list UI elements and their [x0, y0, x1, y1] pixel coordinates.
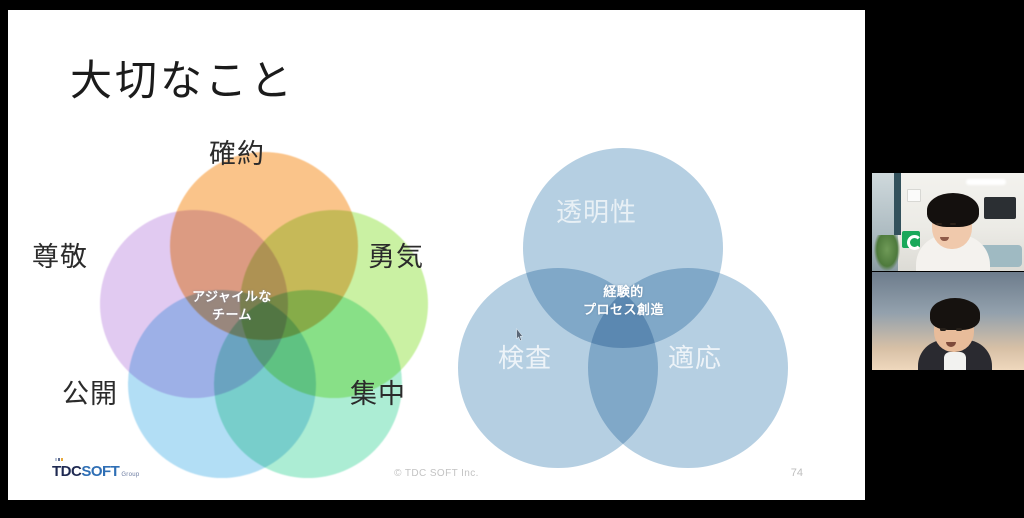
- venn-center-label-line1: 経験的: [603, 284, 644, 299]
- copyright-text: © TDC SOFT Inc.: [8, 468, 865, 479]
- video-green-sign-icon: [902, 231, 920, 248]
- venn-center-label-agile-team: アジャイルな チーム: [164, 288, 300, 323]
- venn-center-label-line2: プロセス創造: [583, 302, 664, 317]
- page-number: 74: [791, 467, 803, 479]
- presentation-slide: 大切なこと 確約 尊敬 勇気 公開 集中 アジャイルな チーム 透明性 検査: [8, 10, 865, 500]
- video-person-eye-left: [936, 223, 942, 225]
- video-tile-participant-2[interactable]: [872, 272, 1024, 370]
- venn-label-courage: 勇気: [368, 235, 424, 274]
- mouse-cursor-icon: [516, 328, 523, 342]
- video-ceiling-light: [966, 179, 1006, 185]
- video-person-shirt: [944, 352, 966, 370]
- video-monitor: [984, 197, 1016, 219]
- screen-share-view: 大切なこと 確約 尊敬 勇気 公開 集中 アジャイルな チーム 透明性 検査: [0, 0, 1024, 518]
- venn-label-commitment: 確約: [209, 132, 265, 171]
- venn-label-openness: 公開: [62, 372, 118, 411]
- venn-center-label-empirical-process: 経験的 プロセス創造: [536, 283, 711, 318]
- venn-label-respect: 尊敬: [32, 235, 88, 274]
- agile-values-venn-diagram: 確約 尊敬 勇気 公開 集中 アジャイルな チーム: [68, 130, 468, 460]
- video-tile-participant-1[interactable]: [872, 173, 1024, 271]
- video-plant: [874, 235, 900, 271]
- venn-label-adaptation: 適応: [668, 338, 722, 375]
- empirical-process-venn-diagram: 透明性 検査 適応 経験的 プロセス創造: [448, 140, 798, 470]
- video-participant-panel: [872, 0, 1024, 518]
- video-person-eye-left: [940, 328, 946, 331]
- venn-center-label-line2: チーム: [212, 307, 252, 322]
- video-wall-plate: [907, 189, 921, 202]
- video-door-frame: [894, 173, 901, 235]
- venn-label-focus: 集中: [350, 372, 406, 411]
- video-person-hair: [927, 193, 979, 227]
- video-person-eye-right: [956, 328, 962, 331]
- slide-footer: TDC SOFT Group © TDC SOFT Inc. 74: [8, 456, 865, 500]
- logo-dots-icon: [55, 458, 63, 461]
- page-title: 大切なこと: [70, 58, 295, 106]
- video-person-hair: [930, 298, 980, 330]
- video-person-eye-right: [950, 223, 956, 225]
- venn-label-inspection: 検査: [498, 338, 552, 375]
- venn-label-transparency: 透明性: [556, 192, 637, 229]
- venn-center-label-line1: アジャイルな: [192, 289, 272, 304]
